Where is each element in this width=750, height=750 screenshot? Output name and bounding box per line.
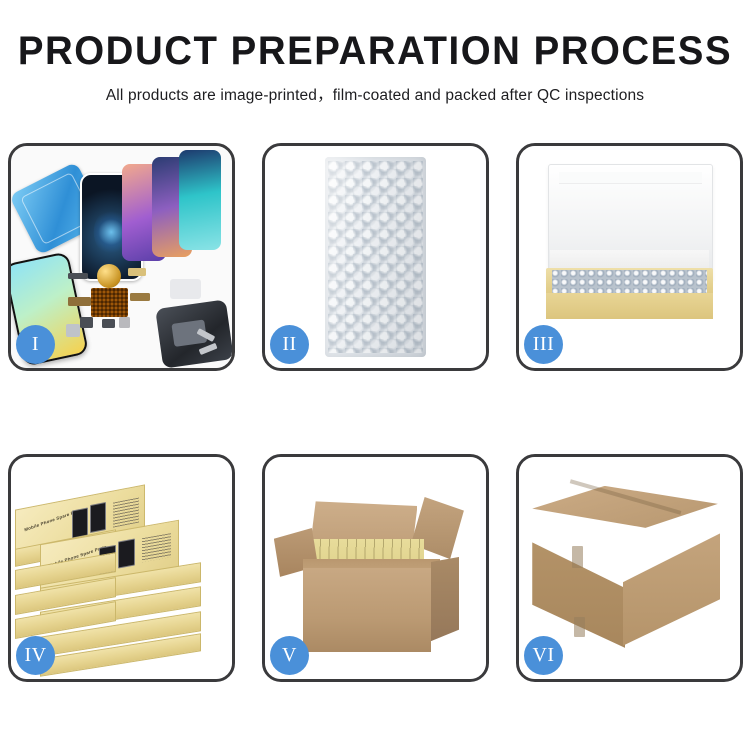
- carton-body: [303, 568, 431, 652]
- spare-part: [102, 319, 115, 328]
- bubble-wrap-pouch: [325, 157, 427, 357]
- spare-part: [80, 317, 93, 328]
- process-step-card-1: I: [8, 143, 235, 371]
- page-subtitle: All products are image-printed，film-coat…: [0, 83, 750, 105]
- bubble-highlight: [325, 157, 427, 357]
- bubble-wrapped-contents: [552, 270, 707, 292]
- step-badge-6: VI: [524, 636, 563, 675]
- step-badge-3: III: [524, 325, 563, 364]
- step-badge-2: II: [270, 325, 309, 364]
- flex-cable-part: [130, 293, 150, 302]
- step-badge-4: IV: [16, 636, 55, 675]
- box-thumbnail: [117, 539, 134, 569]
- spare-part: [66, 324, 79, 337]
- tool-part: [170, 279, 201, 299]
- page-title: PRODUCT PREPARATION PROCESS: [15, 30, 735, 72]
- process-step-card-4: Mobile Phone Spare Parts Mobile Phone Sp…: [8, 454, 235, 682]
- box-spec-lines: [114, 497, 140, 527]
- process-step-card-3: III: [516, 143, 743, 371]
- infographic-page: PRODUCT PREPARATION PROCESS All products…: [0, 0, 750, 750]
- carton-side-panel: [431, 557, 460, 641]
- process-step-card-2: II: [262, 143, 489, 371]
- process-step-card-6: VI: [516, 454, 743, 682]
- process-step-grid: I II III: [8, 143, 742, 682]
- spare-part: [119, 317, 130, 328]
- step-badge-5: V: [270, 636, 309, 675]
- box-spec-lines: [142, 533, 171, 562]
- process-step-card-5: V: [262, 454, 489, 682]
- spare-part: [68, 273, 88, 280]
- carton-tape-bottom: [574, 617, 585, 637]
- connector-chip-part: [91, 288, 129, 317]
- carton-right-face: [623, 524, 720, 646]
- flex-cable-part: [68, 297, 90, 306]
- vibration-motor-part: [97, 264, 121, 288]
- step-badge-1: I: [16, 325, 55, 364]
- header: PRODUCT PREPARATION PROCESS All products…: [0, 0, 750, 105]
- phone-display-teal: [179, 150, 221, 250]
- spare-part: [128, 268, 146, 276]
- box-thumbnail: [91, 502, 107, 533]
- carton-tape-left: [572, 546, 583, 568]
- phone-back-housing: [155, 299, 232, 368]
- kraft-box-front-panel: [546, 293, 714, 320]
